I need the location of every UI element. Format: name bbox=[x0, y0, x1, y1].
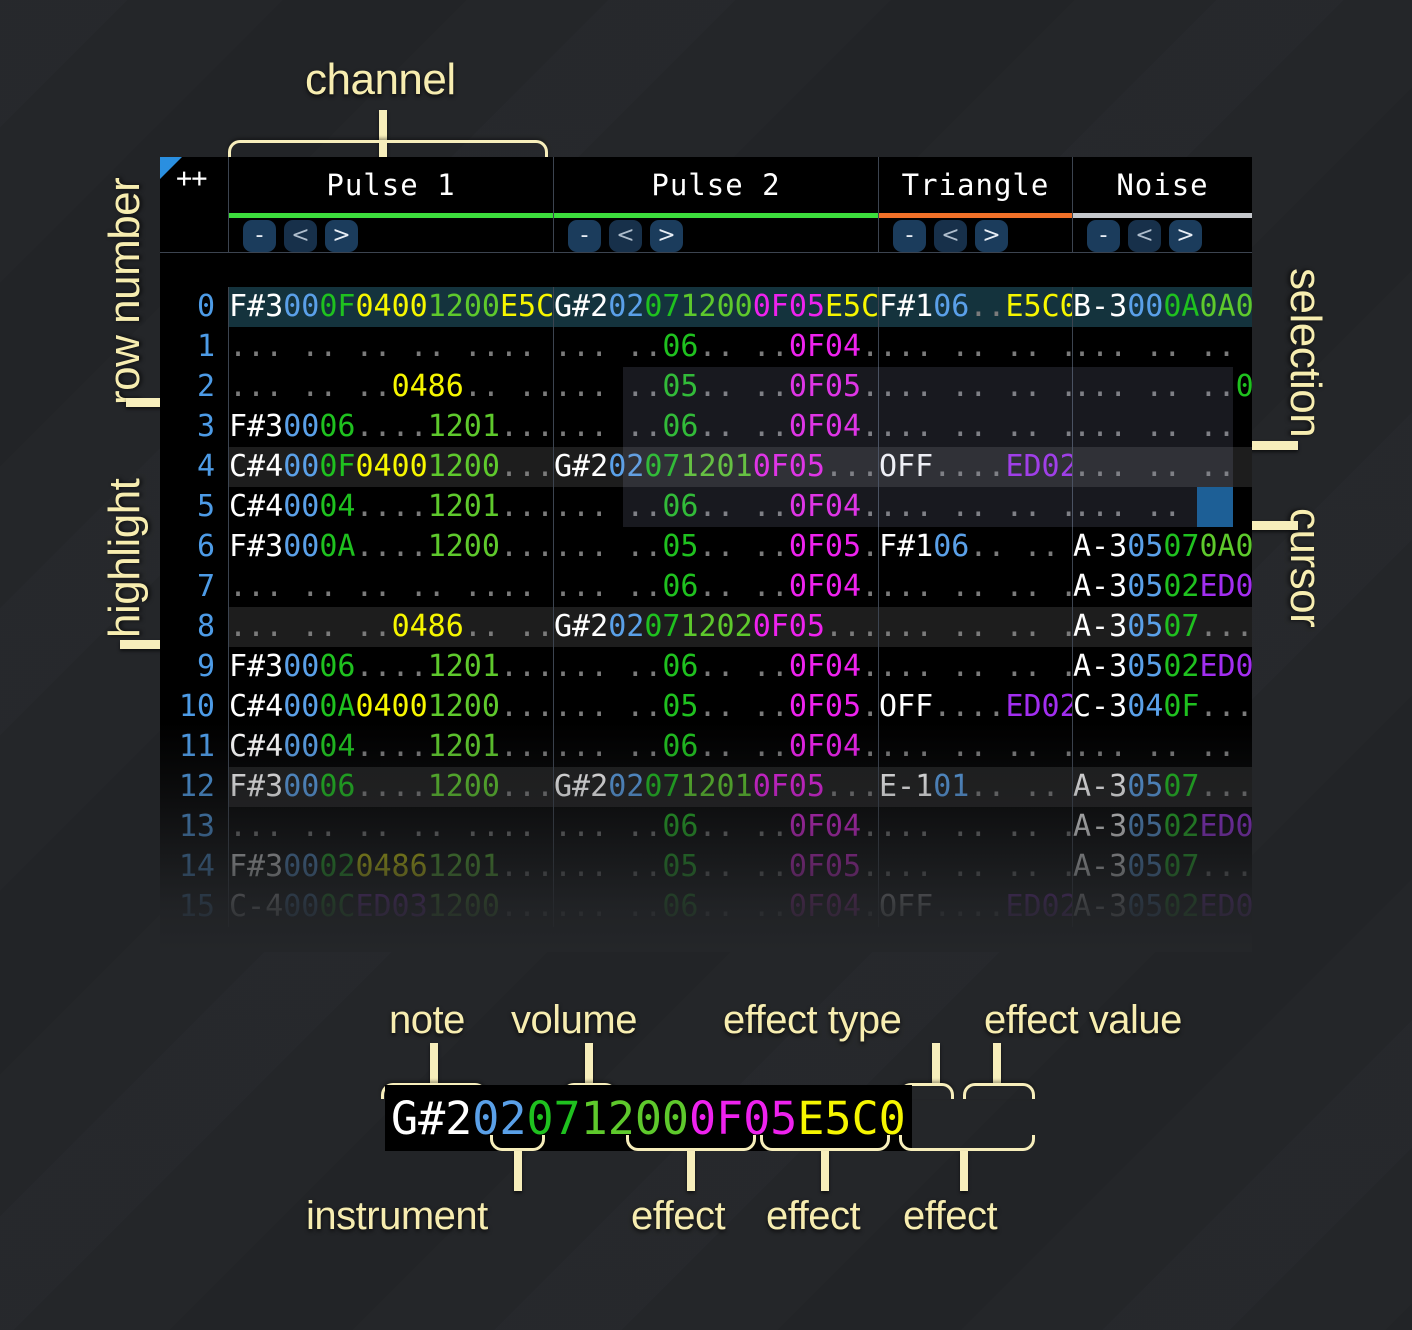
cell-token: 07 bbox=[1163, 849, 1199, 884]
cell-token: ... .. .. .... bbox=[1073, 409, 1252, 444]
cell-token: 1200 bbox=[428, 769, 500, 804]
row-number: 5 bbox=[160, 487, 229, 527]
pattern-cell-p2[interactable]: ... ..06.. ..0F04.... bbox=[554, 487, 879, 527]
row-number: 10 bbox=[160, 687, 229, 727]
pattern-row[interactable]: 11C#40004....1201....... ..06.. ..0F04..… bbox=[160, 727, 1252, 767]
cell-token: .. .. bbox=[699, 729, 789, 764]
pattern-cell-no[interactable]: A-30502ED01 bbox=[1073, 807, 1252, 847]
cell-token: 0F04 bbox=[789, 889, 861, 924]
cell-token: 05 bbox=[662, 849, 698, 884]
cell-token: ... .. .. .... bbox=[879, 809, 1073, 844]
cell-token: 00 bbox=[283, 529, 319, 564]
mute-button-pulse-1[interactable]: - bbox=[243, 220, 276, 252]
row-number: 0 bbox=[160, 287, 229, 327]
cell-token: 1201 bbox=[680, 449, 752, 484]
cell-token: 00 bbox=[283, 649, 319, 684]
pattern-row[interactable]: 0F#3000F04001200E5C0G#2020712000F05E5C0F… bbox=[160, 287, 1252, 327]
pattern-cell-no[interactable]: B-3000A0A02 bbox=[1073, 287, 1252, 327]
annotation-note: note bbox=[389, 998, 465, 1043]
pattern-cell-no[interactable]: A-30502ED01 bbox=[1073, 567, 1252, 607]
row-number: 6 bbox=[160, 527, 229, 567]
bracket-effect-2 bbox=[760, 1135, 890, 1151]
grid-top-gap bbox=[160, 253, 1252, 287]
cell-token: 00 bbox=[1127, 289, 1163, 324]
row-number: 12 bbox=[160, 767, 229, 807]
channel-title-pulse-2: Pulse 2 bbox=[554, 157, 878, 213]
cell-token: .. .. bbox=[699, 489, 789, 524]
next-button-pulse-2[interactable]: > bbox=[650, 220, 683, 252]
cell-token: 01 bbox=[933, 769, 969, 804]
pattern-row[interactable]: 5C#40004....1201....... ..06.. ..0F04...… bbox=[160, 487, 1252, 527]
cell-token: 1200 bbox=[428, 689, 500, 724]
cell-token: 12 bbox=[680, 289, 716, 324]
channel-header-row: ++ Pulse 1 - < > Pulse 2 - < > Triangle bbox=[160, 157, 1252, 253]
cell-token: ... .. .. .... bbox=[1073, 329, 1252, 364]
cell-token: ED02 bbox=[1005, 449, 1073, 484]
cell-token: 00 bbox=[717, 289, 753, 324]
cell-token: .. .. bbox=[699, 569, 789, 604]
pattern-cell-no[interactable]: ... .. .. .... bbox=[1073, 327, 1252, 367]
cell-token: ... .. .. .... bbox=[879, 489, 1073, 524]
cell-token: ... .. .. .... bbox=[879, 849, 1073, 884]
cell-token: .... bbox=[500, 729, 554, 764]
cell-token: 0F bbox=[319, 289, 355, 324]
pattern-cell-p1[interactable]: F#30006....1201.... bbox=[229, 647, 554, 687]
pattern-cell-tr[interactable]: ... .. .. .... bbox=[879, 487, 1073, 527]
cell-token: 00 bbox=[283, 889, 319, 924]
cell-token: 02 bbox=[1163, 889, 1199, 924]
annotation-effect-2: effect bbox=[766, 1194, 860, 1239]
annotation-instrument: instrument bbox=[306, 1194, 488, 1239]
legend-token: E5C0 bbox=[797, 1096, 905, 1141]
cell-token: 02 bbox=[608, 769, 644, 804]
pattern-cell-p2[interactable]: G#2020712010F05.... bbox=[554, 447, 879, 487]
cell-token: .... bbox=[500, 649, 554, 684]
cell-token: .... bbox=[861, 489, 879, 524]
cell-token: ... .. .. .... bbox=[1073, 489, 1252, 524]
pattern-cell-p2[interactable]: ... ..05.. ..0F05.... bbox=[554, 847, 879, 887]
cell-token: .... bbox=[500, 889, 554, 924]
cell-token: C#4 bbox=[229, 489, 283, 524]
cell-token: 07 bbox=[644, 769, 680, 804]
cell-token: 0C bbox=[319, 889, 355, 924]
cell-token: .... bbox=[355, 769, 427, 804]
cell-token: 02 bbox=[1236, 289, 1252, 324]
channel-buttons-pulse-1: - < > bbox=[229, 218, 553, 253]
pattern-cell-tr[interactable]: ... .. .. .... bbox=[879, 367, 1073, 407]
cell-token: 06 bbox=[933, 529, 969, 564]
cell-token: 00 bbox=[283, 289, 319, 324]
row-number: 15 bbox=[160, 887, 229, 927]
pattern-cell-p1[interactable]: ... .. .. .. .... bbox=[229, 567, 554, 607]
mute-button-noise[interactable]: - bbox=[1087, 220, 1120, 252]
cell-token: 05 bbox=[662, 529, 698, 564]
bracket-effect-3 bbox=[899, 1135, 1035, 1151]
cell-token: G#2 bbox=[554, 289, 608, 324]
row-number: 7 bbox=[160, 567, 229, 607]
cell-token: .. .. bbox=[699, 329, 789, 364]
pattern-cell-p1[interactable]: F#30006....1201.... bbox=[229, 407, 554, 447]
pattern-row[interactable]: 9F#30006....1201....... ..06.. ..0F04...… bbox=[160, 647, 1252, 687]
pattern-cell-p1[interactable]: F#30006....1200.... bbox=[229, 767, 554, 807]
cell-token: 06 bbox=[319, 649, 355, 684]
cell-token: 04 bbox=[355, 289, 391, 324]
cell-token: F#3 bbox=[229, 649, 283, 684]
cell-token: 02 bbox=[608, 289, 644, 324]
cell-token: 0F05 bbox=[789, 689, 861, 724]
pattern-row[interactable]: 13... .. .. .. ....... ..06.. ..0F04....… bbox=[160, 807, 1252, 847]
cell-token: .... bbox=[933, 689, 1005, 724]
cell-token: 06 bbox=[662, 409, 698, 444]
cell-token: .... bbox=[500, 489, 554, 524]
pattern-cell-p1[interactable]: C#4000F04001200.... bbox=[229, 447, 554, 487]
cell-token: .... bbox=[355, 409, 427, 444]
cell-token: ED01 bbox=[1199, 889, 1252, 924]
channel-header-pulse-2[interactable]: Pulse 2 - < > bbox=[554, 157, 879, 253]
pattern-cell-p2[interactable]: ... ..06.. ..0F04.... bbox=[554, 647, 879, 687]
bracket-effect-1 bbox=[626, 1135, 756, 1151]
cell-token: .... bbox=[861, 369, 879, 404]
cell-token: C-3 bbox=[1073, 689, 1127, 724]
row-number: 2 bbox=[160, 367, 229, 407]
cell-token: 06 bbox=[933, 289, 969, 324]
cell-token: 0F bbox=[753, 289, 789, 324]
cell-token: 05 bbox=[1127, 769, 1163, 804]
pattern-cell-p2[interactable]: ... ..06.. ..0F04.... bbox=[554, 727, 879, 767]
cell-token: 05 bbox=[1127, 809, 1163, 844]
cell-token: 02 bbox=[319, 849, 355, 884]
cell-token: 0A bbox=[1163, 289, 1199, 324]
annotation-effect-1: effect bbox=[631, 1194, 725, 1239]
cell-token: A-3 bbox=[1073, 609, 1127, 644]
cell-token: 07 bbox=[644, 609, 680, 644]
cell-token: B-3 bbox=[1073, 289, 1127, 324]
cell-token: ... .. .. .. .... bbox=[229, 569, 536, 604]
cell-token: 06 bbox=[319, 409, 355, 444]
pattern-cell-no[interactable]: A-30507.... bbox=[1073, 607, 1252, 647]
cell-token: ... .. bbox=[554, 689, 662, 724]
pattern-cell-p1[interactable]: F#3000F04001200E5C0 bbox=[229, 287, 554, 327]
pattern-cell-tr[interactable]: ... .. .. .... bbox=[879, 407, 1073, 447]
cell-token: 1202 bbox=[680, 609, 752, 644]
pattern-cell-no[interactable]: A-30502ED01 bbox=[1073, 887, 1252, 927]
cell-token: ... .. .. .... bbox=[879, 569, 1073, 604]
cell-token: 05 bbox=[662, 369, 698, 404]
channel-header-pulse-1[interactable]: Pulse 1 - < > bbox=[229, 157, 554, 253]
pattern-row[interactable]: 6F#3000A....1200....... ..05.. ..0F05...… bbox=[160, 527, 1252, 567]
channel-title-pulse-1: Pulse 1 bbox=[229, 157, 553, 213]
channel-buttons-triangle: - < > bbox=[879, 218, 1072, 253]
cell-token: .. .. bbox=[699, 649, 789, 684]
pattern-row[interactable]: 1... .. .. .. ....... ..06.. ..0F04.....… bbox=[160, 327, 1252, 367]
cell-token: 06 bbox=[662, 889, 698, 924]
pattern-cell-p1[interactable]: ... .. ..0486.. .... bbox=[229, 607, 554, 647]
pattern-grid[interactable]: 0F#3000F04001200E5C0G#2020712000F05E5C0F… bbox=[160, 253, 1252, 952]
cell-token: 1200 bbox=[428, 449, 500, 484]
prev-button-pulse-1[interactable]: < bbox=[284, 220, 317, 252]
cell-token: .... bbox=[933, 889, 1005, 924]
cell-token: .... bbox=[861, 329, 879, 364]
pattern-cell-p1[interactable]: ... .. .. .. .... bbox=[229, 807, 554, 847]
cell-token: 0F04 bbox=[789, 649, 861, 684]
cell-token: 0F05 bbox=[789, 529, 861, 564]
pattern-cell-tr[interactable]: ... .. .. .... bbox=[879, 607, 1073, 647]
pattern-cell-p2[interactable]: ... ..05.. ..0F05.... bbox=[554, 687, 879, 727]
cell-token: 06 bbox=[662, 489, 698, 524]
cell-token: 1201 bbox=[680, 769, 752, 804]
prev-button-triangle[interactable]: < bbox=[934, 220, 967, 252]
pattern-cell-tr[interactable]: ... .. .. .... bbox=[879, 847, 1073, 887]
cell-token: C-4 bbox=[229, 889, 283, 924]
pattern-cell-tr[interactable]: ... .. .. .... bbox=[879, 727, 1073, 767]
next-button-noise[interactable]: > bbox=[1169, 220, 1202, 252]
cell-token: .... bbox=[861, 849, 879, 884]
cell-token: .... bbox=[825, 609, 879, 644]
pattern-cell-p2[interactable]: ... ..06.. ..0F04.... bbox=[554, 807, 879, 847]
pattern-cell-p2[interactable]: G#2020712010F05.... bbox=[554, 767, 879, 807]
cell-token: C0 bbox=[1042, 289, 1073, 324]
cell-token: C0 bbox=[536, 289, 554, 324]
cell-token: 00 bbox=[283, 769, 319, 804]
pattern-cell-p2[interactable]: ... ..06.. ..0F04.... bbox=[554, 567, 879, 607]
cell-token: 0A00 bbox=[1199, 529, 1252, 564]
channel-header-noise[interactable]: Noise - < > bbox=[1073, 157, 1252, 253]
pattern-cell-p2[interactable]: G#2020712020F05.... bbox=[554, 607, 879, 647]
pattern-cell-p2[interactable]: ... ..05.. ..0F05.... bbox=[554, 367, 879, 407]
mute-button-pulse-2[interactable]: - bbox=[568, 220, 601, 252]
cell-token: 0F04 bbox=[789, 569, 861, 604]
pattern-cell-no[interactable]: ... .. .. .... bbox=[1073, 447, 1252, 487]
pattern-editor[interactable]: ++ Pulse 1 - < > Pulse 2 - < > Triangle bbox=[160, 157, 1252, 952]
pattern-row[interactable]: 7... .. .. .. ....... ..06.. ..0F04.....… bbox=[160, 567, 1252, 607]
cell-token: 06 bbox=[319, 769, 355, 804]
pattern-cell-p1[interactable]: F#3000A....1200.... bbox=[229, 527, 554, 567]
leader-instrument bbox=[514, 1151, 522, 1191]
cell-token: .... bbox=[500, 529, 554, 564]
pattern-row[interactable]: 4C#4000F04001200....G#2020712010F05....O… bbox=[160, 447, 1252, 487]
cell-token: 1201 bbox=[428, 729, 500, 764]
leader-effect-2 bbox=[821, 1151, 829, 1191]
legend-token: 07 bbox=[526, 1096, 580, 1141]
cell-token: 04 bbox=[1127, 689, 1163, 724]
annotation-effect-value: effect value bbox=[984, 998, 1182, 1043]
cell-token: 0A bbox=[1199, 289, 1235, 324]
cell-token: ... .. .. .... bbox=[879, 609, 1073, 644]
pattern-cell-no[interactable]: ... .. ..0A01 bbox=[1073, 367, 1252, 407]
cell-token: .... bbox=[1199, 689, 1252, 724]
pattern-cell-no[interactable]: A-30502ED01 bbox=[1073, 647, 1252, 687]
cell-token: 0400 bbox=[355, 449, 427, 484]
channel-header-triangle[interactable]: Triangle - < > bbox=[879, 157, 1073, 253]
cell-token: 0400 bbox=[355, 689, 427, 724]
cell-token: 05 bbox=[1127, 529, 1163, 564]
cell-token: .... bbox=[861, 649, 879, 684]
pattern-cell-no[interactable]: ... .. .. .... bbox=[1073, 727, 1252, 767]
cell-token: 1201 bbox=[428, 849, 500, 884]
cell-token: 0486 bbox=[355, 849, 427, 884]
pattern-cell-tr[interactable]: F#106.. .. .... bbox=[879, 527, 1073, 567]
cell-token: .. .. bbox=[699, 809, 789, 844]
prev-button-noise[interactable]: < bbox=[1128, 220, 1161, 252]
cell-token: 0F bbox=[1163, 689, 1199, 724]
pattern-cell-tr[interactable]: ... .. .. .... bbox=[879, 567, 1073, 607]
cell-token: ... .. bbox=[554, 729, 662, 764]
cell-token: A-3 bbox=[1073, 769, 1127, 804]
pattern-row[interactable]: 10C#4000A04001200....... ..05.. ..0F05..… bbox=[160, 687, 1252, 727]
cell-token: 0F04 bbox=[789, 409, 861, 444]
pattern-cell-no[interactable]: A-30507.... bbox=[1073, 847, 1252, 887]
pattern-cell-p1[interactable]: C#40004....1201.... bbox=[229, 487, 554, 527]
cell-token: ... .. bbox=[554, 409, 662, 444]
cell-token: 06 bbox=[662, 809, 698, 844]
cell-token: 0F05 bbox=[753, 449, 825, 484]
pattern-cell-p2[interactable]: ... ..05.. ..0F05.... bbox=[554, 527, 879, 567]
cell-token: 1201 bbox=[428, 649, 500, 684]
pattern-cell-tr[interactable]: F#106..E5C0 bbox=[879, 287, 1073, 327]
cell-token: 0F bbox=[319, 449, 355, 484]
cell-token: 04 bbox=[319, 729, 355, 764]
bracket-instrument bbox=[490, 1135, 545, 1151]
channel-buttons-pulse-2: - < > bbox=[554, 218, 878, 253]
cell-token: 02 bbox=[1163, 569, 1199, 604]
cell-token: C#4 bbox=[229, 729, 283, 764]
pattern-cell-tr[interactable]: ... .. .. .... bbox=[879, 807, 1073, 847]
next-button-triangle[interactable]: > bbox=[975, 220, 1008, 252]
cell-token: 06 bbox=[662, 329, 698, 364]
bracket-effect-value bbox=[963, 1083, 1035, 1099]
pattern-cell-tr[interactable]: ... .. .. .... bbox=[879, 647, 1073, 687]
pattern-cell-no[interactable]: A-30507.... bbox=[1073, 767, 1252, 807]
pattern-row[interactable]: 8... .. ..0486.. ....G#2020712020F05....… bbox=[160, 607, 1252, 647]
cell-token: A-3 bbox=[1073, 529, 1127, 564]
cell-token: ... .. bbox=[554, 489, 662, 524]
cell-token: .... bbox=[500, 689, 554, 724]
pattern-cell-tr[interactable]: OFF....ED02 bbox=[879, 687, 1073, 727]
pattern-cell-p1[interactable]: ... .. .. .. .... bbox=[229, 327, 554, 367]
leader-effect-type bbox=[932, 1043, 940, 1083]
pattern-cell-no[interactable]: A-305070A00 bbox=[1073, 527, 1252, 567]
cell-token: OFF bbox=[879, 689, 933, 724]
cell-token: G#2 bbox=[554, 769, 608, 804]
cell-token: A-3 bbox=[1073, 849, 1127, 884]
cell-token: A-3 bbox=[1073, 649, 1127, 684]
pattern-cell-p2[interactable]: ... ..06.. ..0F04.... bbox=[554, 407, 879, 447]
cell-token: 00 bbox=[283, 449, 319, 484]
row-number: 11 bbox=[160, 727, 229, 767]
pattern-row[interactable]: 3F#30006....1201....... ..06.. ..0F04...… bbox=[160, 407, 1252, 447]
cell-token: F#1 bbox=[879, 529, 933, 564]
pattern-cell-p1[interactable]: C#4000A04001200.... bbox=[229, 687, 554, 727]
cell-token: ED03 bbox=[355, 889, 427, 924]
pattern-cell-no[interactable]: ... .. .. .... bbox=[1073, 407, 1252, 447]
cell-token: 00 bbox=[283, 729, 319, 764]
cell-token: 0A bbox=[319, 529, 355, 564]
cell-token: OFF bbox=[879, 449, 933, 484]
mute-button-triangle[interactable]: - bbox=[893, 220, 926, 252]
cell-token: ... .. .. .... bbox=[879, 729, 1073, 764]
row-number: 9 bbox=[160, 647, 229, 687]
cell-token: 0F04 bbox=[789, 729, 861, 764]
pattern-cell-tr[interactable]: E-101.. .. .... bbox=[879, 767, 1073, 807]
pattern-cell-p1[interactable]: ... .. ..0486.. .... bbox=[229, 367, 554, 407]
pattern-cell-p1[interactable]: F#3000204861201.... bbox=[229, 847, 554, 887]
cell-token: 05 bbox=[1127, 569, 1163, 604]
cell-token: 1201 bbox=[428, 489, 500, 524]
pattern-cell-p2[interactable]: ... ..06.. ..0F04.... bbox=[554, 887, 879, 927]
pattern-cell-p2[interactable]: ... ..06.. ..0F04.... bbox=[554, 327, 879, 367]
pattern-cell-tr[interactable]: OFF....ED02 bbox=[879, 887, 1073, 927]
cell-token: 02 bbox=[608, 609, 644, 644]
rownum-header-cell[interactable]: ++ bbox=[160, 157, 229, 253]
cell-token: E-1 bbox=[879, 769, 933, 804]
cell-token: ... .. .. .... bbox=[1073, 449, 1252, 484]
leader-effect-value bbox=[993, 1043, 1001, 1083]
cell-token: .. .. bbox=[699, 409, 789, 444]
pattern-row[interactable]: 12F#30006....1200....G#2020712010F05....… bbox=[160, 767, 1252, 807]
pattern-rows[interactable]: 0F#3000F04001200E5C0G#2020712000F05E5C0F… bbox=[160, 287, 1252, 927]
cell-token: .... bbox=[1199, 849, 1252, 884]
cell-token: ED02 bbox=[1005, 889, 1073, 924]
cell-token: 07 bbox=[644, 449, 680, 484]
cell-token: F#3 bbox=[229, 769, 283, 804]
row-number: 8 bbox=[160, 607, 229, 647]
cell-token: 02 bbox=[1163, 649, 1199, 684]
cell-token: F#3 bbox=[229, 289, 283, 324]
pattern-row[interactable]: 15C-4000CED031200....... ..06.. ..0F04..… bbox=[160, 887, 1252, 927]
cell-token: 0A bbox=[319, 689, 355, 724]
pattern-cell-no[interactable]: ... .. .. .... bbox=[1073, 487, 1252, 527]
cell-token: OFF bbox=[879, 889, 933, 924]
cell-token: 0486 bbox=[392, 609, 464, 644]
cell-token: ... .. bbox=[554, 809, 662, 844]
cell-token: 02 bbox=[608, 449, 644, 484]
cell-token: 06 bbox=[662, 569, 698, 604]
cell-token: F#3 bbox=[229, 409, 283, 444]
legend-token: 02 bbox=[472, 1096, 526, 1141]
cell-token: ... .. bbox=[554, 569, 662, 604]
prev-button-pulse-2[interactable]: < bbox=[609, 220, 642, 252]
channel-title-noise: Noise bbox=[1073, 157, 1252, 213]
cell-token: 12 bbox=[428, 289, 464, 324]
cell-token: .... bbox=[825, 769, 879, 804]
next-button-pulse-1[interactable]: > bbox=[325, 220, 358, 252]
pattern-row[interactable]: 14F#3000204861201....... ..05.. ..0F05..… bbox=[160, 847, 1252, 887]
pattern-row[interactable]: 2... .. ..0486.. ....... ..05.. ..0F05..… bbox=[160, 367, 1252, 407]
pattern-cell-p2[interactable]: G#2020712000F05E5C0 bbox=[554, 287, 879, 327]
rownum-header-label: ++ bbox=[176, 163, 207, 194]
pattern-cell-p1[interactable]: C-4000CED031200.... bbox=[229, 887, 554, 927]
pattern-cell-tr[interactable]: ... .. .. .... bbox=[879, 327, 1073, 367]
pattern-cell-p1[interactable]: C#40004....1201.... bbox=[229, 727, 554, 767]
annotation-row-number: row number bbox=[100, 178, 150, 405]
cell-token: .. bbox=[969, 289, 1005, 324]
cell-token: ... .. .. .... bbox=[879, 329, 1073, 364]
cell-token: 07 bbox=[1163, 769, 1199, 804]
cell-token: .. .. .... bbox=[969, 769, 1073, 804]
pattern-cell-tr[interactable]: OFF....ED02 bbox=[879, 447, 1073, 487]
cell-token: 00 bbox=[392, 289, 428, 324]
pattern-cell-no[interactable]: C-3040F.... bbox=[1073, 687, 1252, 727]
cell-token: 06 bbox=[662, 649, 698, 684]
cell-token: ... .. .. .... bbox=[879, 369, 1073, 404]
cell-token: F#1 bbox=[879, 289, 933, 324]
cell-token: 00 bbox=[464, 289, 500, 324]
cell-token: ... .. .. bbox=[1073, 369, 1236, 404]
cell-token: 0F05 bbox=[789, 369, 861, 404]
cell-token: C0 bbox=[861, 289, 879, 324]
cell-token: 04 bbox=[319, 489, 355, 524]
cell-token: E5 bbox=[825, 289, 861, 324]
